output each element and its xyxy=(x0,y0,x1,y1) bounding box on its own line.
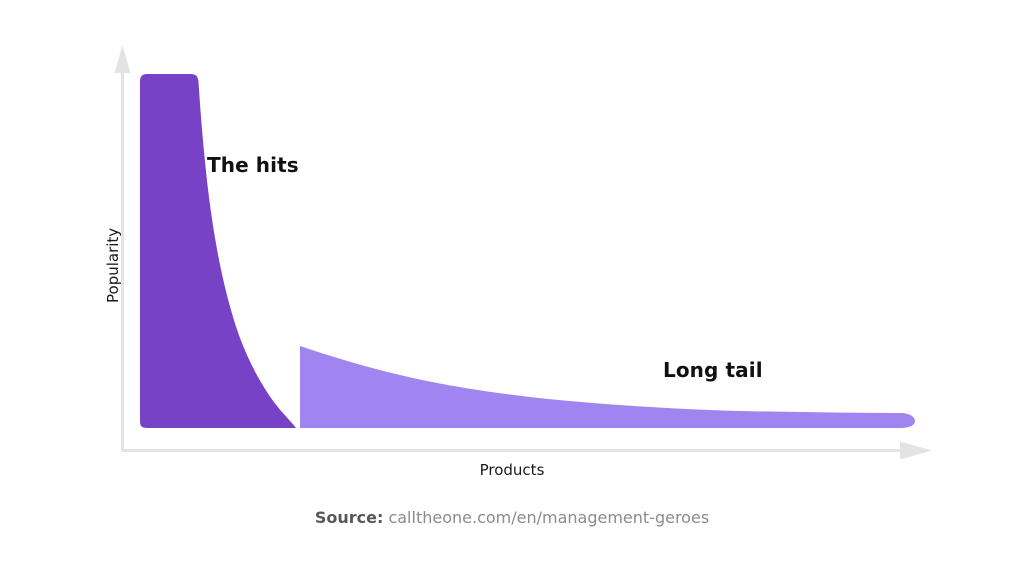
long-tail-area xyxy=(300,346,915,428)
x-axis-arrow-icon xyxy=(900,442,932,460)
hits-annotation-label: The hits xyxy=(207,153,299,177)
hits-area xyxy=(140,74,296,428)
source-attribution: Source: calltheone.com/en/management-ger… xyxy=(0,508,1024,527)
source-url: calltheone.com/en/management-geroes xyxy=(388,508,709,527)
y-axis-arrow-icon xyxy=(115,45,131,73)
source-label: Source: xyxy=(315,508,384,527)
chart-canvas xyxy=(0,0,1024,577)
y-axis-title: Popularity xyxy=(104,228,122,303)
long-tail-chart-figure: The hits Long tail Popularity Products S… xyxy=(0,0,1024,577)
long-tail-annotation-label: Long tail xyxy=(663,358,763,382)
x-axis-title: Products xyxy=(0,461,1024,479)
